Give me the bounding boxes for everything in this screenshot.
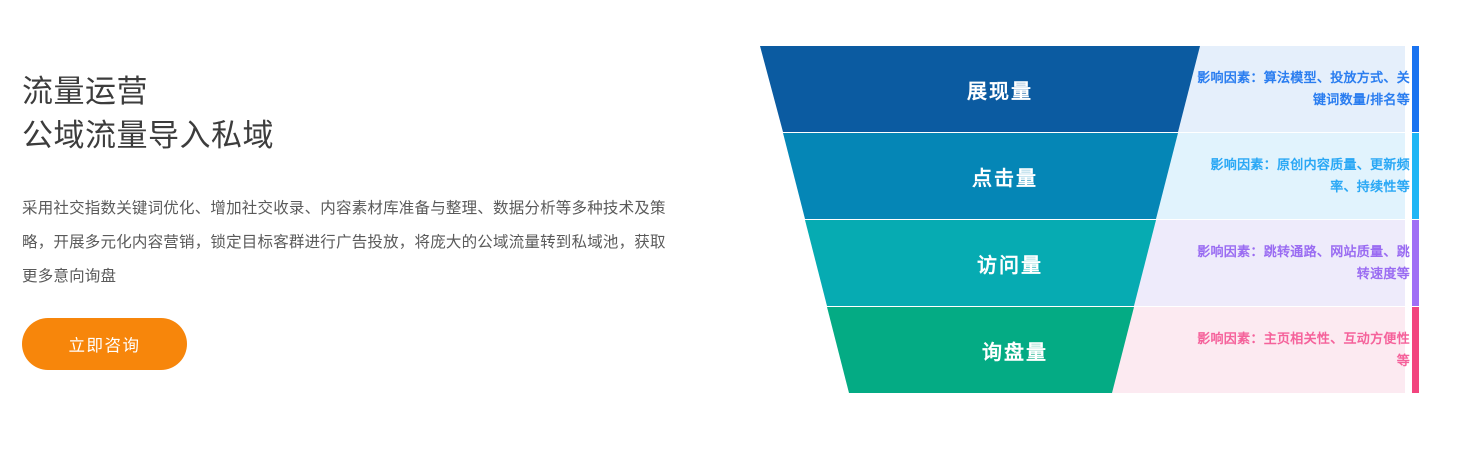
- funnel-stage-shape: [745, 220, 1445, 306]
- page-title-line-1: 流量运营: [22, 70, 682, 114]
- funnel-stage-accent-bar: [1412, 46, 1419, 132]
- stage-panel-0: [1163, 46, 1405, 132]
- funnel-row[interactable]: 点击量 影响因素：原创内容质量、更新频率、持续性等: [745, 133, 1445, 219]
- funnel-row[interactable]: 访问量 影响因素：跳转通路、网站质量、跳转速度等: [745, 220, 1445, 306]
- page-title: 流量运营 公域流量导入私域: [22, 70, 682, 158]
- stage-trapezoid-2: [805, 220, 1156, 306]
- funnel-stage-shape: [745, 46, 1445, 132]
- stage-trapezoid-0: [760, 46, 1200, 132]
- traffic-funnel-diagram: 展现量 影响因素：算法模型、投放方式、关键词数量/排名等 点击量 影响因素：原创…: [745, 46, 1445, 396]
- stage-trapezoid-3: [827, 307, 1134, 393]
- intro-panel: 流量运营 公域流量导入私域 采用社交指数关键词优化、增加社交收录、内容素材库准备…: [22, 70, 682, 294]
- intro-description: 采用社交指数关键词优化、增加社交收录、内容素材库准备与整理、数据分析等多种技术及…: [22, 192, 677, 294]
- funnel-stage-accent-bar: [1412, 220, 1419, 306]
- stage-trapezoid-1: [783, 133, 1178, 219]
- stage-panel-1: [1141, 133, 1405, 219]
- funnel-stage-accent-bar: [1412, 307, 1419, 393]
- consult-now-button[interactable]: 立即咨询: [22, 318, 187, 370]
- funnel-stage-accent-bar: [1412, 133, 1419, 219]
- page-title-line-2: 公域流量导入私域: [22, 114, 682, 158]
- funnel-stage-shape: [745, 133, 1445, 219]
- funnel-stage-shape: [745, 307, 1445, 393]
- stage-panel-3: [1097, 307, 1405, 393]
- funnel-row[interactable]: 询盘量 影响因素：主页相关性、互动方便性等: [745, 307, 1445, 393]
- stage-panel-2: [1119, 220, 1405, 306]
- funnel-row[interactable]: 展现量 影响因素：算法模型、投放方式、关键词数量/排名等: [745, 46, 1445, 132]
